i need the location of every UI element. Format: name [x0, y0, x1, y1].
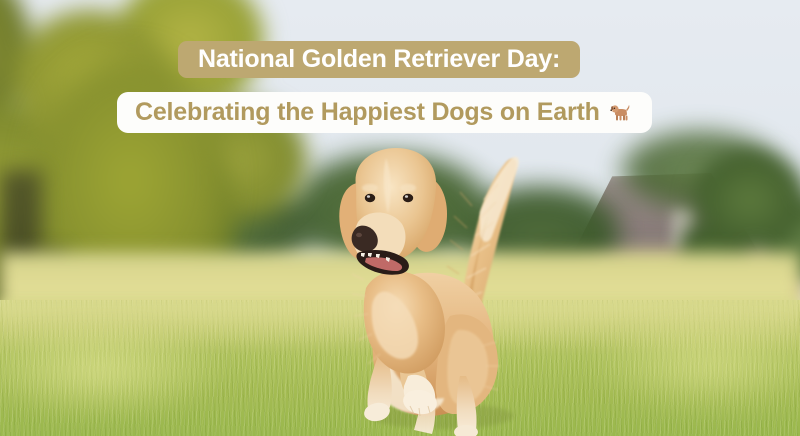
golden-retriever-dog — [330, 140, 560, 436]
headline-line-1: National Golden Retriever Day: — [198, 45, 560, 74]
headline-line-2: Celebrating the Happiest Dogs on Earth — [135, 98, 600, 127]
hero-banner-image: National Golden Retriever Day: Celebrati… — [0, 0, 800, 436]
dog-eye-right — [403, 194, 413, 202]
headline-banner-secondary: Celebrating the Happiest Dogs on Earth — [117, 92, 652, 133]
dog-head — [339, 148, 447, 275]
dog-emoji — [609, 100, 634, 125]
grass-sun-highlight-left — [0, 320, 280, 436]
headline-banner-primary: National Golden Retriever Day: — [178, 41, 580, 78]
dog-eye-left — [365, 194, 375, 202]
grass-sun-highlight-right — [560, 310, 800, 436]
